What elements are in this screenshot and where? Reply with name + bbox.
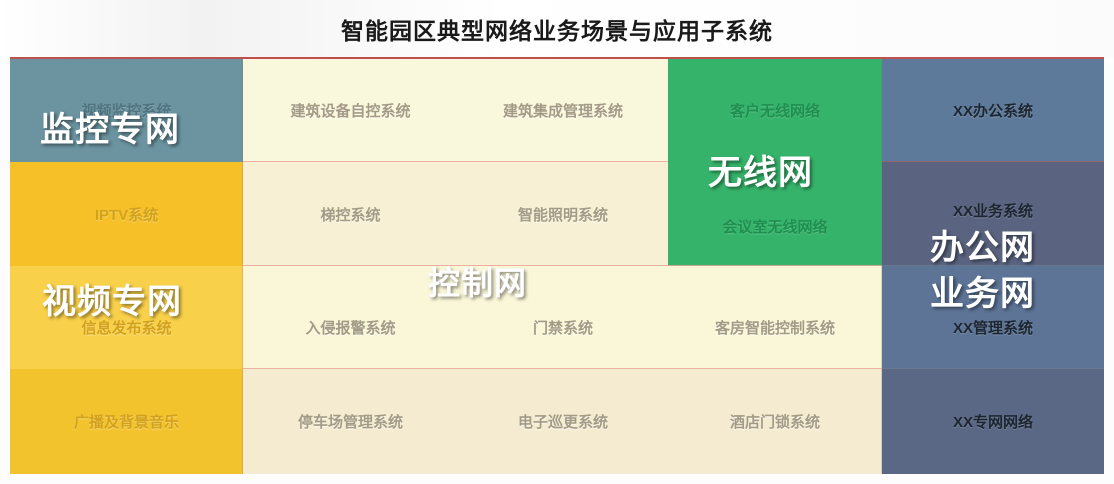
row-divider xyxy=(243,368,882,369)
cell-label: 酒店门锁系统 xyxy=(730,411,820,432)
cell-label: XX业务系统 xyxy=(953,200,1033,221)
cell-meeting-room-wireless-network[interactable]: 会议室无线网络 xyxy=(668,162,882,266)
cell-smart-lighting[interactable]: 智能照明系统 xyxy=(458,162,668,266)
row-divider xyxy=(882,265,1104,266)
cell-label: 智能照明系统 xyxy=(518,204,608,225)
network-matrix: 视频监控系统 IPTV系统 信息发布系统 广播及背景音乐 建筑设备自控系统 梯控… xyxy=(10,57,1104,472)
cell-intrusion-alarm[interactable]: 入侵报警系统 xyxy=(243,266,458,369)
cell-label: 门禁系统 xyxy=(533,317,593,338)
cell-xx-office-system[interactable]: XX办公系统 xyxy=(882,59,1104,162)
cell-label: 客户无线网络 xyxy=(730,100,820,121)
cell-label: 建筑集成管理系统 xyxy=(503,100,623,121)
cell-label: 梯控系统 xyxy=(320,204,380,225)
cell-label: XX专网网络 xyxy=(953,411,1033,432)
row-divider xyxy=(243,265,882,266)
slide-canvas: 智能园区典型网络业务场景与应用子系统 视频监控系统 IPTV系统 信息发布系统 … xyxy=(0,0,1114,484)
cell-label: XX办公系统 xyxy=(953,100,1033,121)
cell-label: 停车场管理系统 xyxy=(298,411,403,432)
cell-label: IPTV系统 xyxy=(95,204,158,225)
cell-guestroom-smart-control[interactable]: 客房智能控制系统 xyxy=(668,266,882,369)
cell-label: 视频监控系统 xyxy=(81,100,171,121)
cell-xx-management-system[interactable]: XX管理系统 xyxy=(882,266,1104,369)
row-divider xyxy=(882,161,1104,162)
cell-label: 客房智能控制系统 xyxy=(715,317,835,338)
cell-label: 会议室无线网络 xyxy=(722,216,827,237)
row-divider xyxy=(882,368,1104,369)
cell-label: 入侵报警系统 xyxy=(305,317,395,338)
page-title: 智能园区典型网络业务场景与应用子系统 xyxy=(341,12,773,46)
cell-building-equipment-control[interactable]: 建筑设备自控系统 xyxy=(243,59,458,162)
column-divider xyxy=(242,59,243,474)
cell-label: XX管理系统 xyxy=(953,317,1033,338)
title-bar: 智能园区典型网络业务场景与应用子系统 xyxy=(0,0,1114,57)
cell-video-surveillance[interactable]: 视频监控系统 xyxy=(10,59,243,162)
cell-broadcast-music[interactable]: 广播及背景音乐 xyxy=(10,369,243,474)
cell-iptv[interactable]: IPTV系统 xyxy=(10,162,243,266)
column-divider xyxy=(881,59,882,474)
cell-xx-business-system[interactable]: XX业务系统 xyxy=(882,162,1104,266)
cell-access-control[interactable]: 门禁系统 xyxy=(458,266,668,369)
cell-label: 电子巡更系统 xyxy=(518,411,608,432)
row-divider xyxy=(243,161,668,162)
cell-label: 信息发布系统 xyxy=(81,317,171,338)
cell-building-integration-management[interactable]: 建筑集成管理系统 xyxy=(458,59,668,162)
cell-parking-management[interactable]: 停车场管理系统 xyxy=(243,369,458,474)
cell-label: 广播及背景音乐 xyxy=(74,411,179,432)
cell-information-release[interactable]: 信息发布系统 xyxy=(10,266,243,369)
cell-xx-private-network[interactable]: XX专网网络 xyxy=(882,369,1104,474)
cell-electronic-patrol[interactable]: 电子巡更系统 xyxy=(458,369,668,474)
cell-label: 建筑设备自控系统 xyxy=(290,100,410,121)
cell-hotel-door-lock[interactable]: 酒店门锁系统 xyxy=(668,369,882,474)
cell-guest-wireless-network[interactable]: 客户无线网络 xyxy=(668,59,882,162)
cell-elevator-control[interactable]: 梯控系统 xyxy=(243,162,458,266)
